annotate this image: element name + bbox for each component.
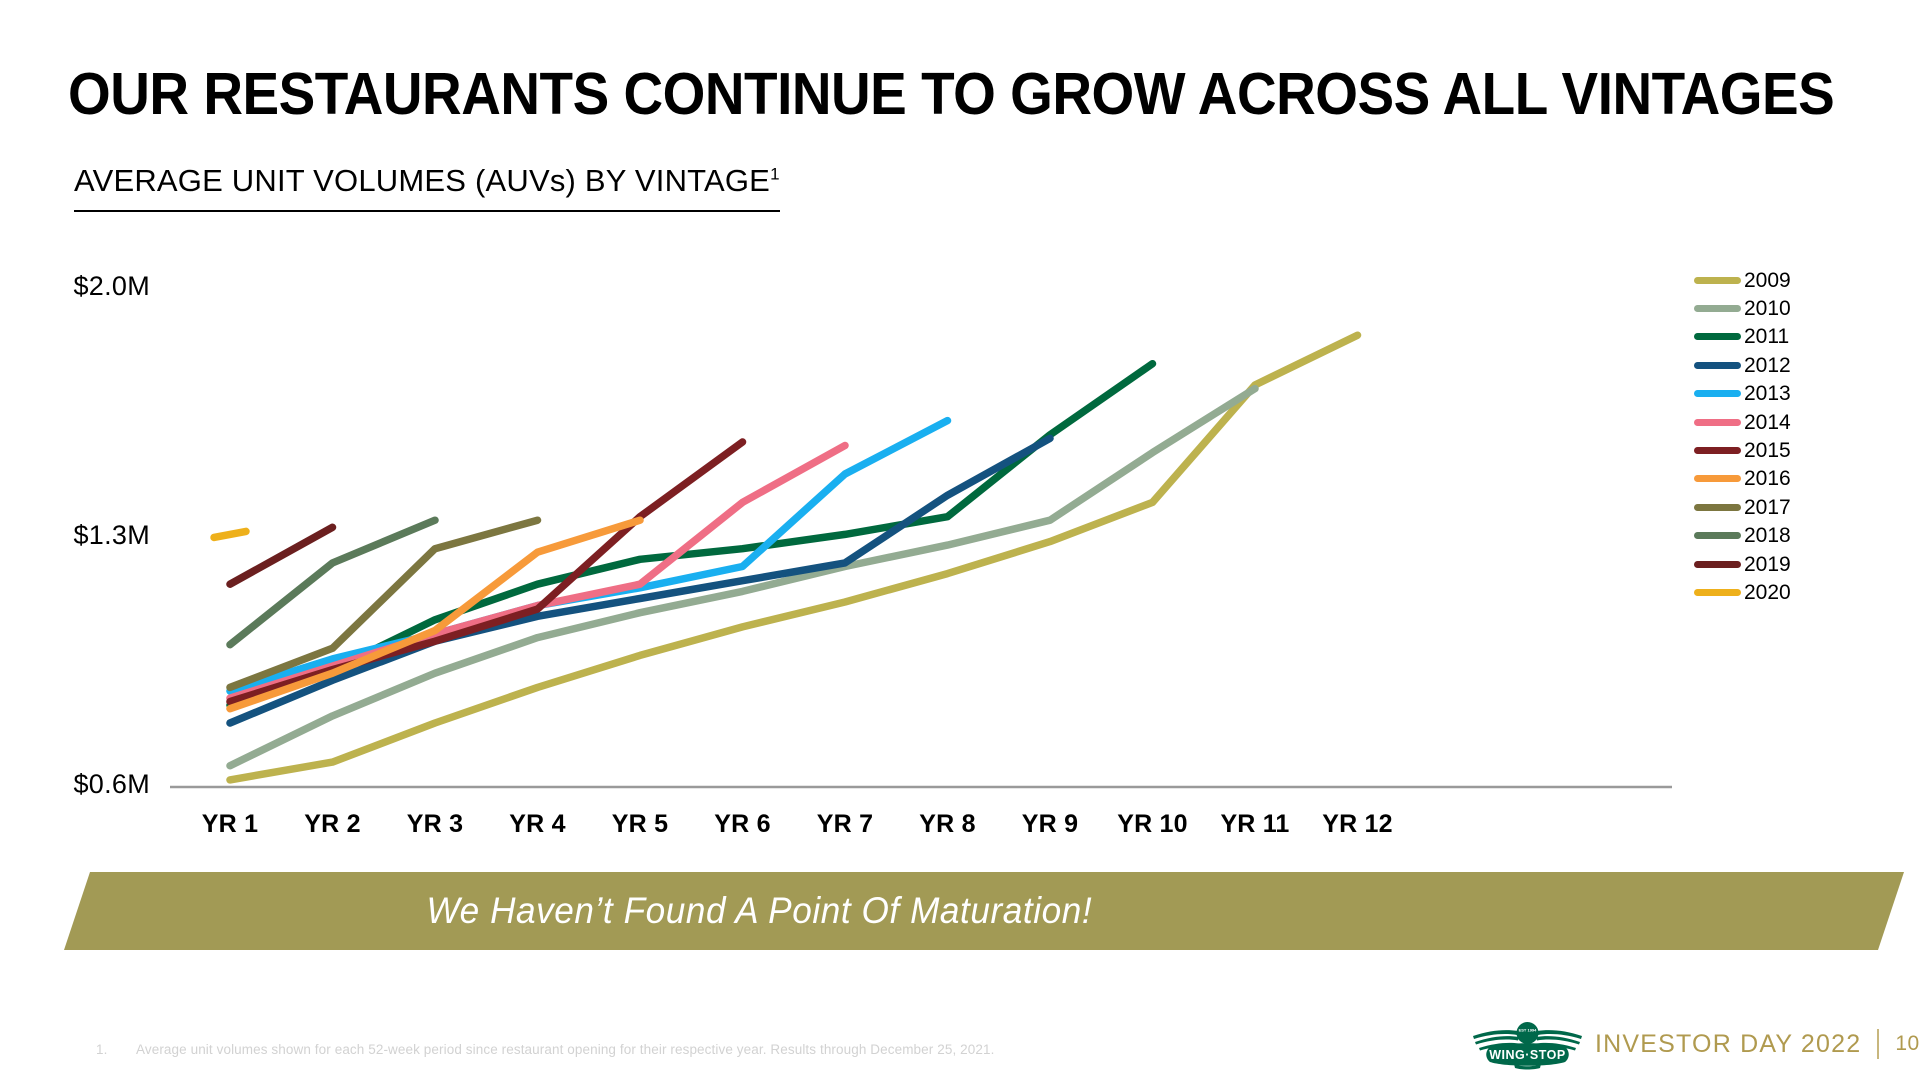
legend-swatch-2019	[1694, 561, 1741, 568]
chart-line-2017	[230, 520, 538, 687]
legend-item-2013[interactable]: 2013	[1694, 380, 1864, 408]
legend-swatch-2012	[1694, 362, 1741, 369]
legend-item-2020[interactable]: 2020	[1694, 578, 1864, 606]
x-axis-tick-yr6: YR 6	[683, 810, 803, 839]
legend-item-2016[interactable]: 2016	[1694, 465, 1864, 493]
legend-swatch-2013	[1694, 390, 1741, 397]
chart-line-2020	[214, 531, 246, 537]
chart-line-2016	[230, 520, 640, 709]
chart-legend: 2009201020112012201320142015201620172018…	[1694, 266, 1864, 607]
chart-line-2011	[230, 364, 1153, 706]
y-axis-tick-06M: $0.6M	[30, 769, 150, 800]
x-axis-tick-yr11: YR 11	[1195, 810, 1315, 839]
chart-subtitle-text: AVERAGE UNIT VOLUMES (AUVs) BY VINTAGE	[74, 163, 770, 198]
slide-root: OUR RESTAURANTS CONTINUE TO GROW ACROSS …	[0, 0, 1920, 1080]
legend-item-2009[interactable]: 2009	[1694, 266, 1864, 294]
legend-swatch-2020	[1694, 589, 1741, 596]
legend-item-2010[interactable]: 2010	[1694, 294, 1864, 322]
chart-subtitle: AVERAGE UNIT VOLUMES (AUVs) BY VINTAGE1	[74, 163, 780, 212]
footer-divider	[1877, 1029, 1879, 1059]
wingstop-logo-icon: WING·STOP EST 1994	[1470, 1018, 1585, 1070]
svg-text:EST 1994: EST 1994	[1519, 1028, 1538, 1033]
legend-label-2020: 2020	[1744, 582, 1791, 603]
x-axis-tick-yr2: YR 2	[273, 810, 393, 839]
legend-swatch-2016	[1694, 475, 1741, 482]
chart-line-2012	[230, 438, 1050, 723]
legend-label-2011: 2011	[1744, 326, 1789, 347]
highlight-banner: We Haven’t Found A Point Of Maturation!	[64, 872, 1904, 950]
legend-label-2010: 2010	[1744, 298, 1791, 319]
svg-text:WING·STOP: WING·STOP	[1489, 1048, 1566, 1062]
legend-item-2015[interactable]: 2015	[1694, 436, 1864, 464]
banner-text: We Haven’t Found A Point Of Maturation!	[426, 890, 1092, 932]
chart-line-2009	[230, 335, 1358, 780]
legend-swatch-2015	[1694, 447, 1741, 454]
footer-brand: WING·STOP EST 1994 INVESTOR DAY 2022 10	[1470, 1018, 1920, 1070]
chart-line-2015	[230, 442, 743, 702]
legend-label-2014: 2014	[1744, 412, 1791, 433]
legend-label-2013: 2013	[1744, 383, 1791, 404]
legend-swatch-2017	[1694, 504, 1741, 511]
legend-swatch-2014	[1694, 419, 1741, 426]
legend-item-2018[interactable]: 2018	[1694, 522, 1864, 550]
y-axis-tick-20M: $2.0M	[30, 271, 150, 302]
x-axis-tick-yr7: YR 7	[785, 810, 905, 839]
footnote-text: Average unit volumes shown for each 52-w…	[136, 1042, 994, 1057]
x-axis-tick-yr12: YR 12	[1298, 810, 1418, 839]
legend-label-2015: 2015	[1744, 440, 1791, 461]
legend-item-2012[interactable]: 2012	[1694, 351, 1864, 379]
x-axis-tick-yr10: YR 10	[1093, 810, 1213, 839]
chart-line-2010	[230, 389, 1255, 766]
footnote-number: 1.	[96, 1042, 136, 1057]
legend-item-2019[interactable]: 2019	[1694, 550, 1864, 578]
x-axis-tick-yr9: YR 9	[990, 810, 1110, 839]
chart-line-2013	[230, 421, 948, 691]
legend-label-2018: 2018	[1744, 525, 1791, 546]
legend-label-2017: 2017	[1744, 497, 1791, 518]
chart-line-2014	[230, 446, 845, 699]
legend-item-2014[interactable]: 2014	[1694, 408, 1864, 436]
chart-line-2019	[230, 527, 333, 584]
chart-subtitle-wrap: AVERAGE UNIT VOLUMES (AUVs) BY VINTAGE1	[74, 163, 780, 212]
page-title: OUR RESTAURANTS CONTINUE TO GROW ACROSS …	[68, 62, 1742, 126]
legend-label-2019: 2019	[1744, 554, 1791, 575]
investor-day-label: INVESTOR DAY 2022	[1595, 1030, 1861, 1059]
legend-swatch-2010	[1694, 305, 1741, 312]
footnote-marker: 1	[770, 165, 780, 184]
legend-item-2017[interactable]: 2017	[1694, 493, 1864, 521]
x-axis-tick-yr8: YR 8	[888, 810, 1008, 839]
legend-swatch-2009	[1694, 277, 1741, 284]
chart-series-group	[214, 335, 1358, 780]
chart-line-2018	[230, 520, 435, 645]
legend-swatch-2018	[1694, 532, 1741, 539]
footnote: 1. Average unit volumes shown for each 5…	[96, 1042, 994, 1057]
x-axis-tick-yr4: YR 4	[478, 810, 598, 839]
x-axis-tick-yr5: YR 5	[580, 810, 700, 839]
x-axis-tick-yr3: YR 3	[375, 810, 495, 839]
legend-swatch-2011	[1694, 333, 1741, 340]
legend-item-2011[interactable]: 2011	[1694, 323, 1864, 351]
legend-label-2009: 2009	[1744, 270, 1791, 291]
legend-label-2016: 2016	[1744, 468, 1791, 489]
legend-label-2012: 2012	[1744, 355, 1791, 376]
page-number: 10	[1895, 1032, 1919, 1056]
x-axis-tick-yr1: YR 1	[170, 810, 290, 839]
y-axis-tick-13M: $1.3M	[30, 520, 150, 551]
